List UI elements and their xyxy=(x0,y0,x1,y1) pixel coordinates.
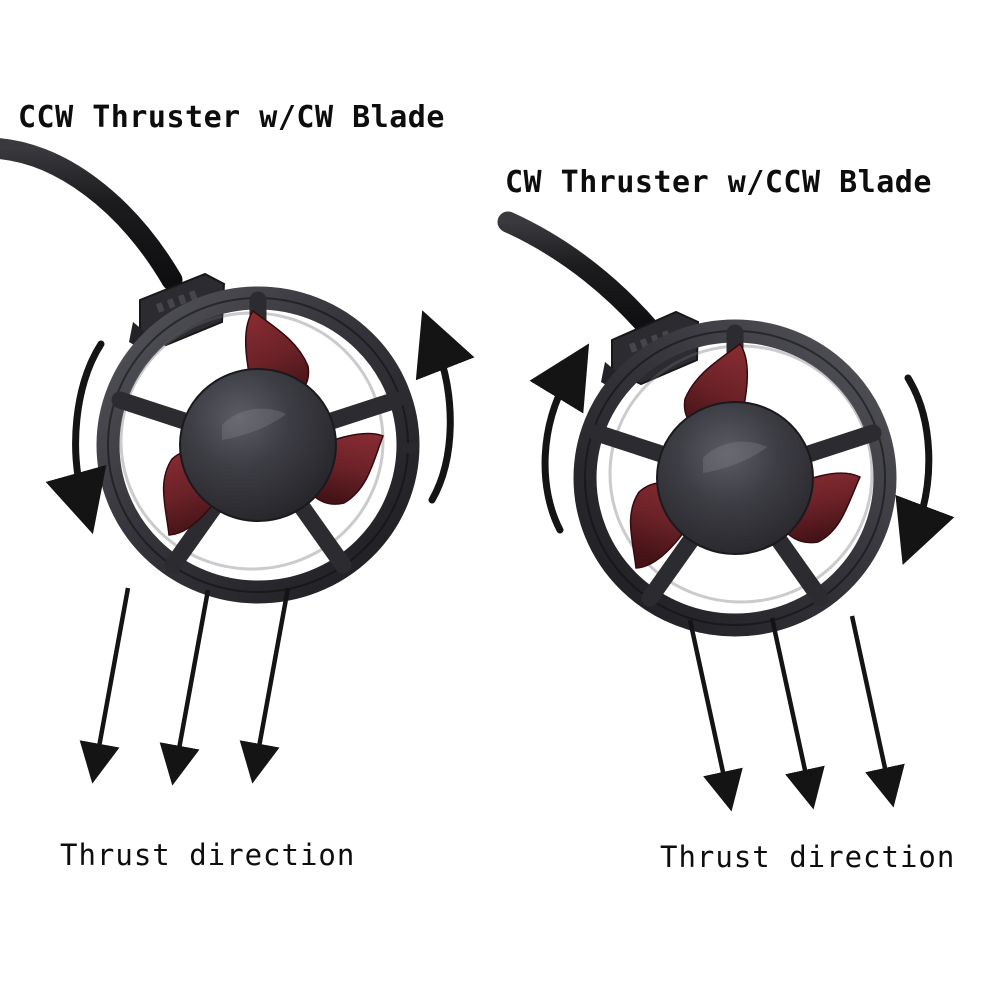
label-ccw-thruster-title: CCW Thruster w/CW Blade xyxy=(18,100,445,135)
thrust-arrow-right-3 xyxy=(852,616,888,782)
rotation-arrow-left-up[interactable] xyxy=(432,348,450,500)
duct-nub-left xyxy=(402,443,416,453)
thruster-left xyxy=(0,148,450,760)
label-thrust-direction-left: Thrust direction xyxy=(60,838,355,872)
thrust-arrow-right-2 xyxy=(772,618,808,784)
cable-left xyxy=(0,148,172,280)
hub-dome-left xyxy=(180,369,336,521)
diagram-canvas: CCW Thruster w/CW Blade CW Thruster w/CC… xyxy=(0,0,1000,1000)
hub-dome-right xyxy=(657,402,813,554)
thrust-arrow-right-1 xyxy=(690,620,726,786)
label-cw-thruster-title: CW Thruster w/CCW Blade xyxy=(505,165,932,200)
thruster-right xyxy=(508,222,929,786)
thrust-arrow-left-2 xyxy=(177,590,208,760)
rotation-arrow-right-down[interactable] xyxy=(908,378,929,527)
rotation-arrow-right-up[interactable] xyxy=(545,378,568,530)
thrust-arrow-left-3 xyxy=(257,588,288,758)
thrust-arrows-left xyxy=(97,588,288,760)
rotation-arrow-left-down[interactable] xyxy=(76,344,101,495)
thrust-arrow-left-1 xyxy=(97,588,128,758)
thrust-arrows-right xyxy=(690,616,888,786)
cable-right xyxy=(508,222,652,332)
label-thrust-direction-right: Thrust direction xyxy=(660,840,955,874)
